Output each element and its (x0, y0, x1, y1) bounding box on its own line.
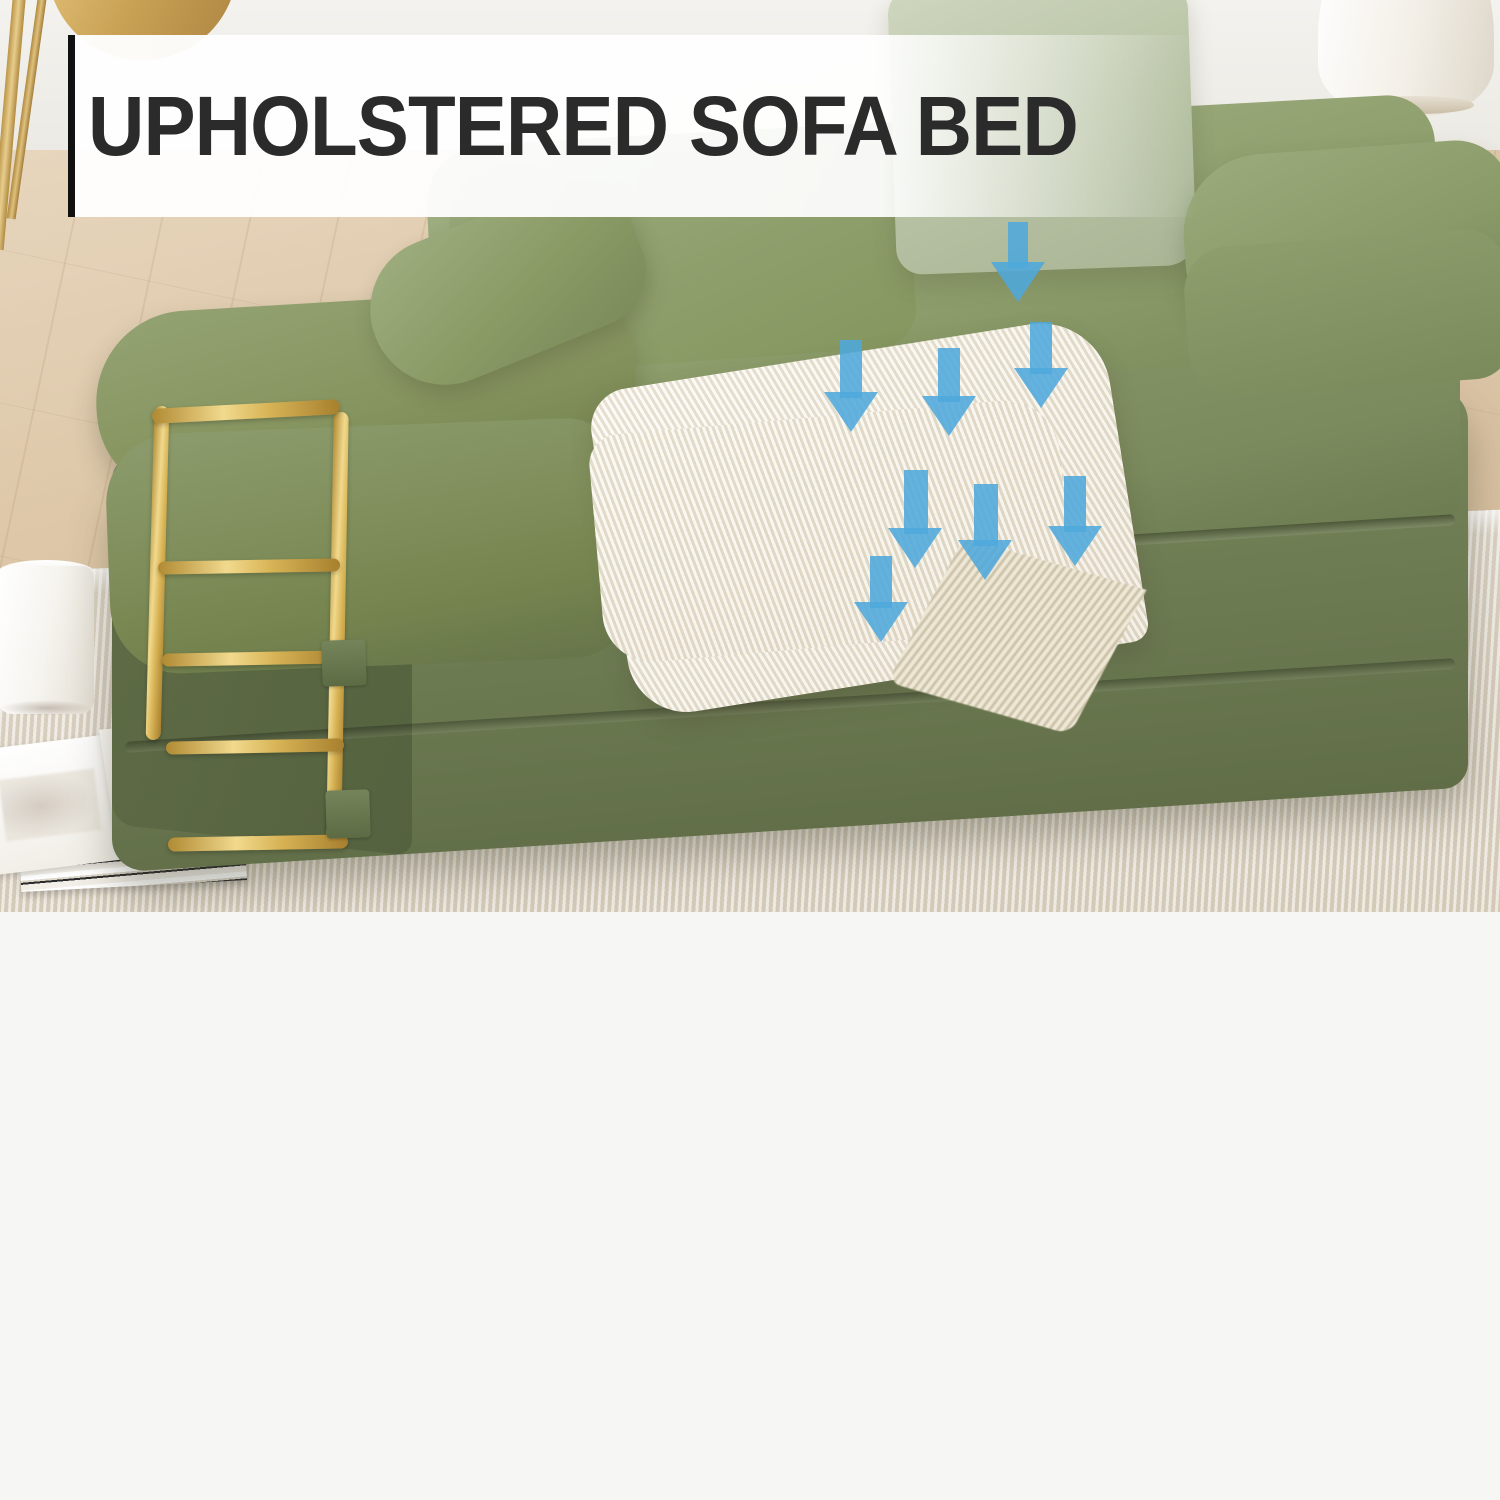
product-infographic: UPHOLSTERED SOFA BED UPHOLSTERED SOFA BE… (0, 0, 1500, 1500)
sofa-armrest-left-front (104, 416, 633, 676)
fabric-strap-lower (325, 789, 371, 839)
hero-title: UPHOLSTERED SOFA BED (88, 56, 1130, 196)
sofa-armrest-right-lower (1181, 227, 1500, 399)
fabric-strap-upper (321, 639, 367, 687)
feature-section: UPHOLSTERED SOFA BED The sofa bed is mad… (0, 912, 1500, 1500)
hero-lifestyle-photo: UPHOLSTERED SOFA BED (0, 0, 1500, 912)
hero-title-accent-bar (68, 35, 75, 217)
